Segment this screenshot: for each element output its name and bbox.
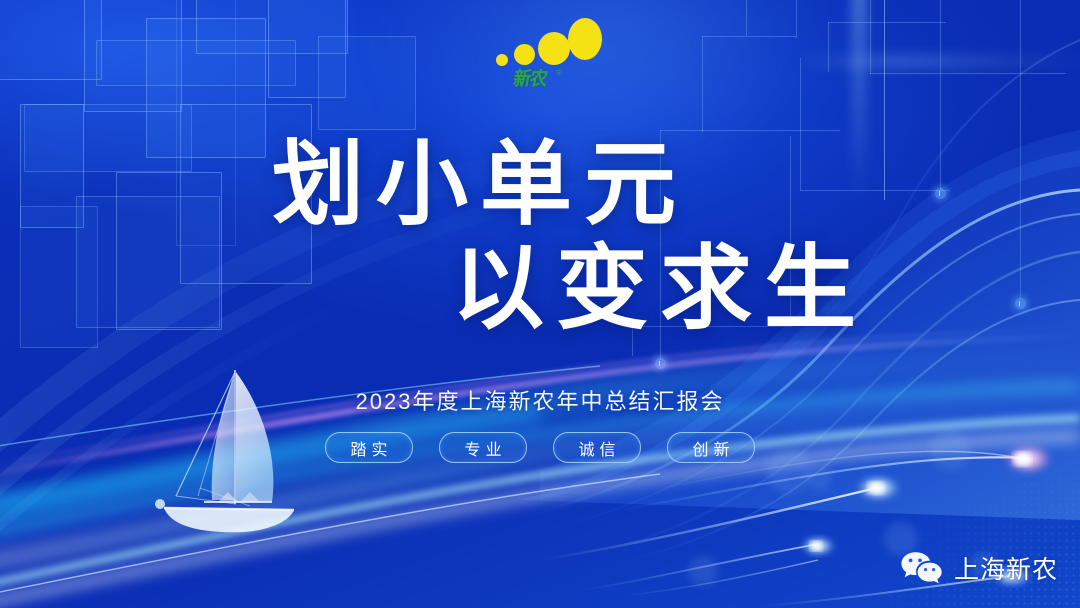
headline-line-1: 划小单元 <box>0 132 1080 236</box>
subtitle: 2023年度上海新农年中总结汇报会 <box>0 384 1080 416</box>
logo-dot-3 <box>538 32 570 65</box>
logo-wordmark: 新农 <box>512 70 548 89</box>
logo-dot-2 <box>514 44 535 65</box>
value-tag-1[interactable]: 踏实 <box>325 432 413 463</box>
headline-line-2: 以变求生 <box>0 236 1080 340</box>
value-tag-4[interactable]: 创新 <box>667 432 755 463</box>
watermark-label: 上海新农 <box>954 550 1058 586</box>
value-tag-list: 踏实 专业 诚信 创新 <box>0 432 1080 463</box>
logo-dot-4 <box>568 18 602 60</box>
headline: 划小单元 以变求生 <box>0 132 1080 340</box>
wechat-icon <box>900 551 944 585</box>
logo-dot-1 <box>496 54 508 66</box>
value-tag-2[interactable]: 专业 <box>439 432 527 463</box>
logo-registered-mark: ® <box>556 68 562 77</box>
wechat-watermark: 上海新农 <box>900 550 1058 586</box>
brand-logo: 新农 ® <box>496 18 596 96</box>
value-tag-3[interactable]: 诚信 <box>553 432 641 463</box>
poster-canvas: 新农 ® 划小单元 以变求生 2023年度上海新农年中总结汇报会 踏实 专业 诚… <box>0 0 1080 608</box>
